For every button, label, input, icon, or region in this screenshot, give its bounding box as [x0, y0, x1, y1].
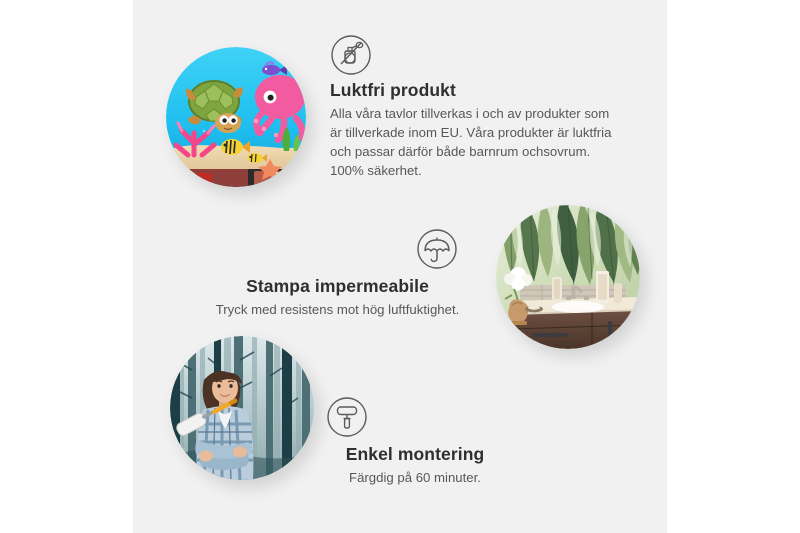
feature-odourless: Luktfri produkt Alla våra tavlor tillver…	[330, 34, 630, 180]
feature-assembly: Enkel montering Färgdig på 60 minuter.	[300, 396, 530, 487]
feature-waterproof: Stampa impermeabile Tryck med resistens …	[195, 228, 480, 319]
media-circle-forest	[170, 336, 314, 480]
feature-body: Tryck med resistens mot hög luftfuktighe…	[195, 300, 480, 319]
paint-roller-icon	[326, 396, 368, 438]
media-circle-kids	[166, 47, 306, 187]
feature-body: Alla våra tavlor tillverkas i och av pro…	[330, 104, 622, 181]
umbrella-icon	[416, 228, 458, 270]
feature-title: Luktfri produkt	[330, 80, 630, 102]
feature-title: Enkel montering	[300, 444, 530, 466]
no-fragrance-icon	[330, 34, 372, 76]
feature-banner: Luktfri produkt Alla våra tavlor tillver…	[0, 0, 800, 533]
feature-title: Stampa impermeabile	[195, 276, 480, 298]
feature-body: Färgdig på 60 minuter.	[300, 468, 530, 487]
media-circle-bathroom	[496, 205, 640, 349]
